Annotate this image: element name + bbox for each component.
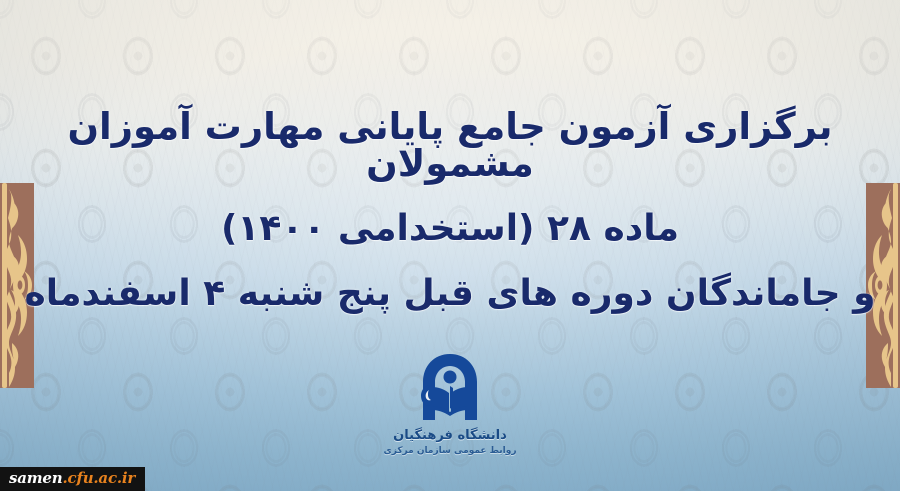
organization-logo: دانشگاه فرهنگیان روابط عمومی سازمان مرکز… — [0, 352, 900, 456]
site-watermark[interactable]: samen.cfu.ac.ir — [0, 467, 145, 491]
headline-line-3: و جاماندگان دوره های قبل پنج شنبه ۴ اسفن… — [0, 276, 900, 312]
watermark-site-tld: .cfu.ac.ir — [63, 469, 136, 487]
headline-line-2: ماده ۲۸ (استخدامی ۱۴۰۰) — [0, 211, 900, 247]
organization-department: روابط عمومی سازمان مرکزی — [383, 446, 516, 456]
announcement-poster: برگزاری آزمون جامع پایانی مهارت آموزان م… — [0, 0, 900, 491]
poster-headline: برگزاری آزمون جامع پایانی مهارت آموزان م… — [0, 108, 900, 312]
farhangian-university-emblem-icon — [413, 352, 487, 424]
watermark-site-name: samen — [9, 469, 63, 487]
organization-name: دانشگاه فرهنگیان — [393, 428, 507, 443]
headline-line-1: برگزاری آزمون جامع پایانی مهارت آموزان م… — [0, 108, 900, 182]
